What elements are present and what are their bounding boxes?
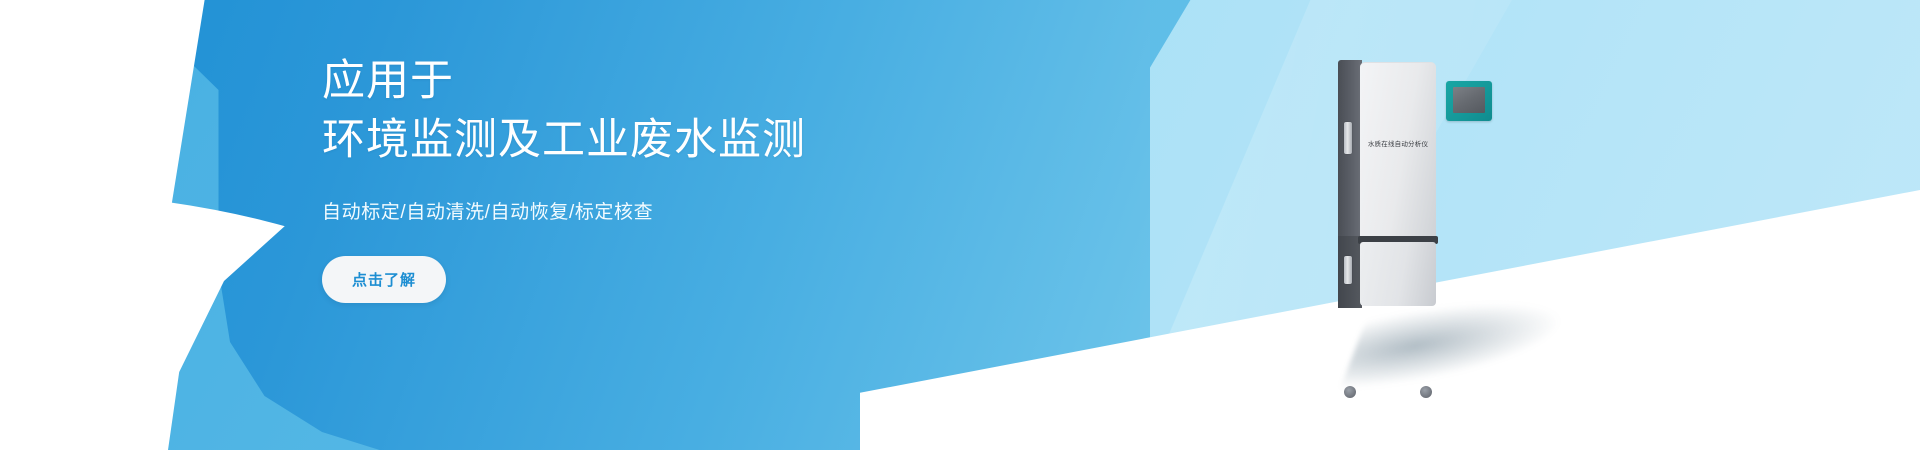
banner-subtitle: 自动标定/自动清洗/自动恢复/标定核查 [322, 171, 1082, 224]
device-display-icon [1453, 87, 1485, 113]
device-lower-compartment [1360, 242, 1436, 306]
learn-more-button[interactable]: 点击了解 [322, 256, 446, 303]
banner-content: 应用于 环境监测及工业废水监测 自动标定/自动清洗/自动恢复/标定核查 点击了解 [322, 0, 1082, 450]
device-handle-upper-icon [1344, 122, 1352, 154]
device-screen-bezel [1446, 81, 1492, 121]
hero-banner: 应用于 环境监测及工业废水监测 自动标定/自动清洗/自动恢复/标定核查 点击了解… [0, 0, 1920, 450]
product-image-water-analyzer: 水质在线自动分析仪 [1292, 60, 1552, 390]
device-caster-right-icon [1420, 386, 1432, 398]
device-handle-lower-icon [1344, 256, 1352, 284]
banner-headline: 应用于 环境监测及工业废水监测 [322, 0, 1082, 171]
device-nameplate-label: 水质在线自动分析仪 [1360, 138, 1436, 148]
device-caster-left-icon [1344, 386, 1356, 398]
device-upper-door [1360, 62, 1436, 241]
